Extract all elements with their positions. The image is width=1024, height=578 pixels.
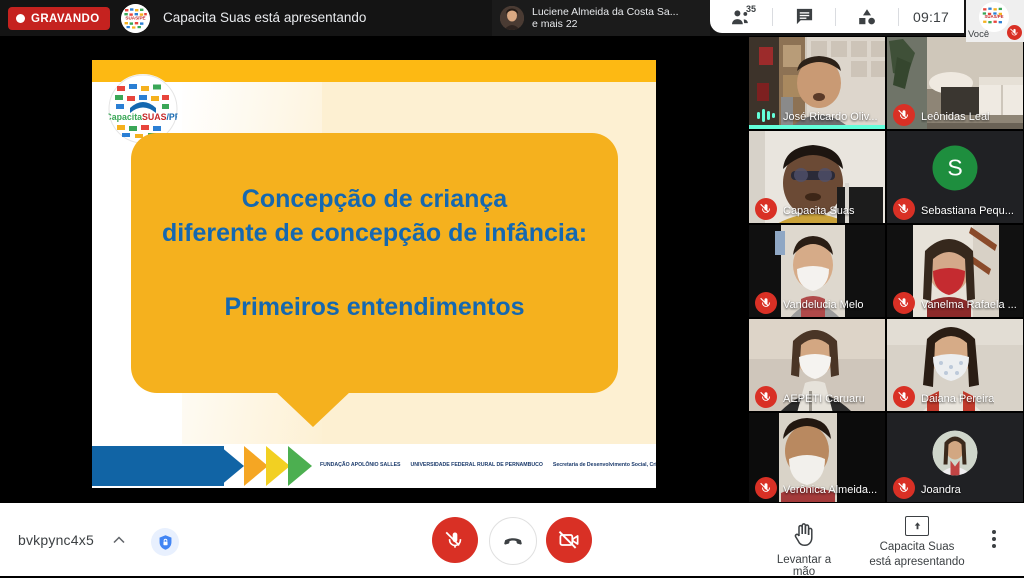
slide-subtitle: Primeiros entendimentos [131, 293, 618, 322]
participant-tile[interactable]: AEPETI Caruaru [748, 318, 886, 412]
raise-hand-label: Levantar a mão [768, 554, 840, 578]
participant-grid: José Ricardo Oliv... [748, 36, 1024, 503]
svg-text:SUAS/PE: SUAS/PE [984, 14, 1003, 19]
self-view-tile[interactable]: SUAS/PE Você [966, 0, 1024, 42]
active-speaker-chip: Luciene Almeida da Costa Sa... e mais 22 [492, 0, 710, 36]
participant-name: Verônica Almeida... [783, 484, 877, 496]
footer-logos: FUNDAÇÃO APOLÔNIO SALLES UNIVERSIDADE FE… [320, 450, 650, 482]
participant-tile[interactable]: Joandra [886, 412, 1024, 503]
presentation-stage[interactable]: CapacitaSUAS/PE Concepção de criança dif… [0, 36, 748, 503]
footer-arrow [220, 446, 244, 486]
mic-off-icon [755, 292, 777, 314]
mic-off-icon [893, 477, 915, 499]
present-screen-icon [905, 516, 929, 536]
mic-off-icon [893, 386, 915, 408]
meeting-clock: 09:17 [899, 0, 963, 33]
svg-text:CapacitaSUAS/PE: CapacitaSUAS/PE [108, 112, 178, 122]
mic-off-icon [755, 477, 777, 499]
logo-secretaria: Secretaria de Desenvolvimento Social, Cr… [553, 463, 656, 469]
callout-tail [275, 391, 351, 427]
participant-name: José Ricardo Oliv... [783, 111, 878, 123]
mic-off-icon [893, 198, 915, 220]
participant-name: Joandra [921, 484, 961, 496]
mic-off-icon [755, 198, 777, 220]
hand-icon [768, 521, 840, 552]
participant-name: Sebastiana Pequ... [921, 205, 1014, 217]
slide-callout-box: Concepção de criança diferente de concep… [131, 133, 618, 393]
active-speaker-others: e mais 22 [532, 18, 679, 30]
svg-text:SUAS/PE: SUAS/PE [125, 16, 145, 21]
participant-tile[interactable]: Verônica Almeida... [748, 412, 886, 503]
capacitasuas-logo-icon: SUAS/PE [979, 2, 1009, 32]
participant-name: Vandelucia Melo [783, 299, 864, 311]
participant-name: Leônidas Leal [921, 111, 990, 123]
mic-off-icon [893, 104, 915, 126]
slide-footer-bar: FUNDAÇÃO APOLÔNIO SALLES UNIVERSIDADE FE… [92, 444, 656, 488]
chevron-up-icon[interactable] [113, 535, 125, 547]
logo-fundacao-apolonio-salles: FUNDAÇÃO APOLÔNIO SALLES [320, 463, 401, 469]
avatar [933, 431, 978, 476]
participant-name: Daiana Pereira [921, 393, 994, 405]
mic-off-icon [1007, 25, 1022, 40]
slide-top-strip [92, 60, 656, 82]
footer-arrow [288, 446, 312, 486]
audio-bars-icon [755, 107, 777, 123]
footer-blue-block [92, 446, 224, 486]
top-bar: GRAVANDO SUAS/PE Capacita Sua [0, 0, 1024, 36]
bottom-toolbar: bvkpync4x5 [0, 503, 1024, 576]
presenting-label-line1: Capacita Suas [862, 540, 972, 555]
slide-title-line2: diferente de concepção de infância: [131, 217, 618, 251]
participant-tile[interactable]: S Sebastiana Pequ... [886, 130, 1024, 224]
meeting-code[interactable]: bvkpync4x5 [18, 532, 94, 548]
participant-tile[interactable]: Capacita Suas [748, 130, 886, 224]
footer-arrow [244, 446, 268, 486]
participant-tile[interactable]: Daiana Pereira [886, 318, 1024, 412]
participant-tile[interactable]: Vandelucia Melo [748, 224, 886, 318]
presenting-label: Capacita Suas está apresentando [862, 540, 972, 570]
footer-arrow [266, 446, 290, 486]
presenting-button[interactable]: Capacita Suas está apresentando [862, 516, 972, 570]
camera-toggle-button[interactable] [546, 517, 592, 563]
participants-button[interactable]: 35 [710, 0, 772, 33]
chat-button[interactable] [773, 0, 835, 33]
recording-indicator: GRAVANDO [8, 7, 110, 30]
record-dot-icon [16, 14, 25, 23]
active-speaker-name: Luciene Almeida da Costa Sa... [532, 6, 679, 18]
shield-lock-icon[interactable] [151, 528, 179, 556]
mic-toggle-button[interactable] [432, 517, 478, 563]
participant-name: Capacita Suas [783, 205, 855, 217]
slide-title-line1: Concepção de criança [131, 183, 618, 217]
mic-off-icon [893, 292, 915, 314]
mic-off-icon [755, 386, 777, 408]
slide-title: Concepção de criança diferente de concep… [131, 183, 618, 251]
participant-tile[interactable]: Vanelma Rafaela ... [886, 224, 1024, 318]
participant-name: Vanelma Rafaela ... [921, 299, 1017, 311]
participants-count: 35 [746, 4, 756, 14]
recording-label: GRAVANDO [31, 13, 100, 25]
active-speaker-names: Luciene Almeida da Costa Sa... e mais 22 [532, 6, 679, 31]
capacitasuas-logo-icon: SUAS/PE [121, 4, 150, 33]
end-call-button[interactable] [489, 517, 537, 565]
more-vertical-icon[interactable] [992, 530, 996, 548]
header-actions-panel: 35 09:17 [710, 0, 964, 33]
presentation-slide: CapacitaSUAS/PE Concepção de criança dif… [92, 60, 656, 488]
presenting-status-text: Capacita Suas está apresentando [163, 10, 366, 25]
self-view-label: Você [968, 29, 989, 40]
logo-ufrpe: UNIVERSIDADE FEDERAL RURAL DE PERNAMBUCO [411, 463, 543, 469]
avatar [500, 6, 524, 30]
speaking-indicator-border [749, 125, 885, 129]
participant-tile[interactable]: José Ricardo Oliv... [748, 36, 886, 130]
raise-hand-button[interactable]: Levantar a mão [768, 521, 840, 578]
activities-button[interactable] [836, 0, 898, 33]
participant-name: AEPETI Caruaru [783, 393, 865, 405]
google-meet-window: GRAVANDO SUAS/PE Capacita Sua [0, 0, 1024, 576]
participant-tile[interactable]: Leônidas Leal [886, 36, 1024, 130]
presenting-label-line2: está apresentando [862, 555, 972, 570]
avatar: S [933, 145, 978, 190]
